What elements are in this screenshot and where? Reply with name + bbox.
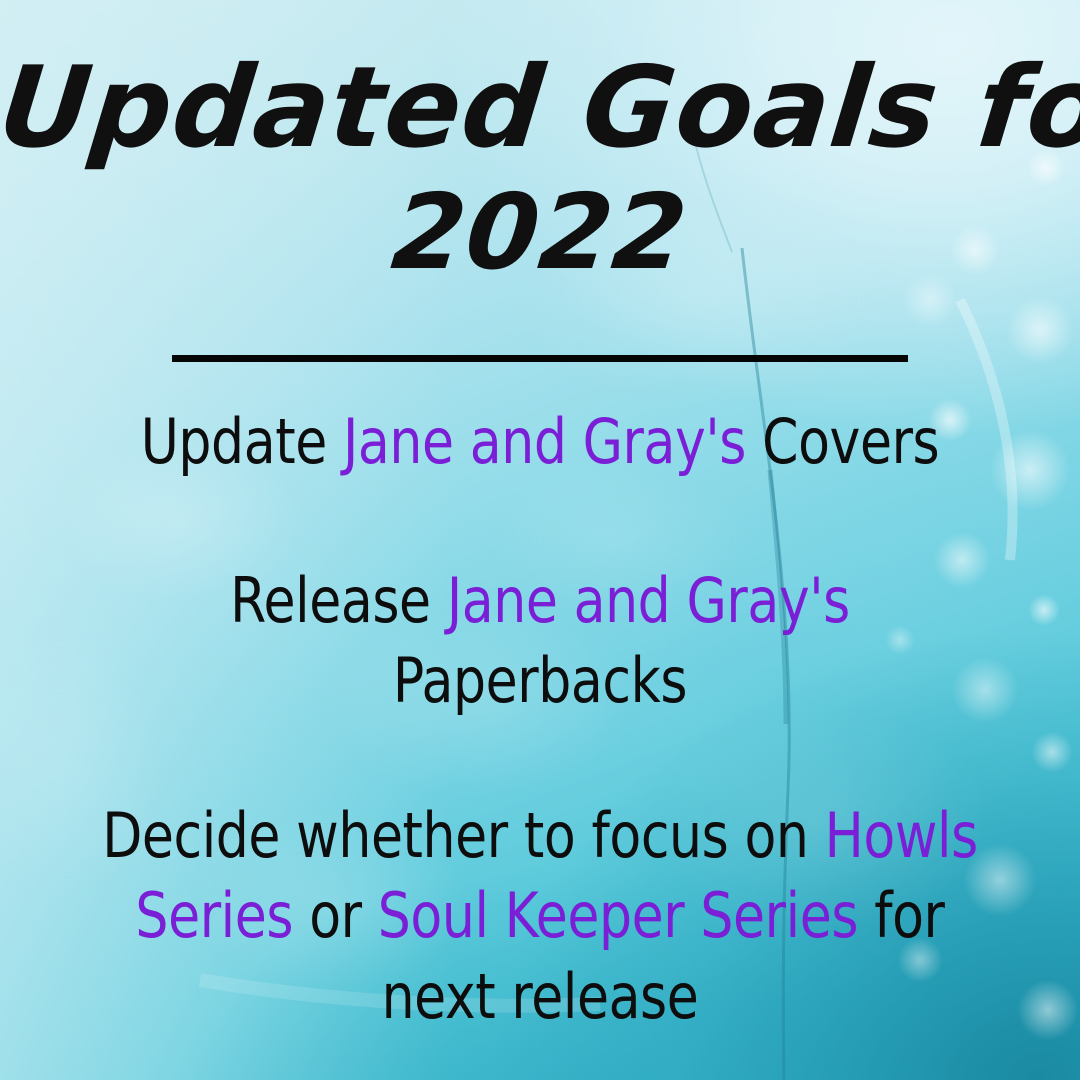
goal-accent-text: Jane and Gray's	[343, 405, 746, 478]
goal-accent-text: Soul Keeper Series	[378, 879, 858, 952]
goal-accent-text: Jane and Gray's	[447, 564, 850, 637]
goal-item-series-decision: Decide whether to focus on Howls Series …	[102, 796, 979, 1038]
poster-content: Updated Goals for 2022 Update Jane and G…	[0, 0, 1080, 1080]
goal-plain-text: Release	[230, 564, 447, 637]
goal-plain-text: Update	[141, 405, 343, 478]
goal-plain-text: Paperbacks	[393, 644, 687, 717]
title-divider-rule	[172, 355, 908, 362]
goals-poster: Updated Goals for 2022 Update Jane and G…	[0, 0, 1080, 1080]
poster-title-block: Updated Goals for 2022	[0, 52, 1080, 284]
page-title-line-2: 2022	[0, 180, 1080, 284]
goal-plain-text: or	[293, 879, 378, 952]
goal-plain-text: Decide whether to focus on	[102, 799, 824, 872]
goal-item-paperbacks: Release Jane and Gray's Paperbacks	[102, 561, 979, 722]
goals-list: Update Jane and Gray's Covers Release Ja…	[0, 402, 1080, 1038]
goal-item-covers: Update Jane and Gray's Covers	[102, 402, 979, 483]
page-title-line-1: Updated Goals for	[0, 52, 1080, 164]
goal-plain-text: Covers	[746, 405, 939, 478]
